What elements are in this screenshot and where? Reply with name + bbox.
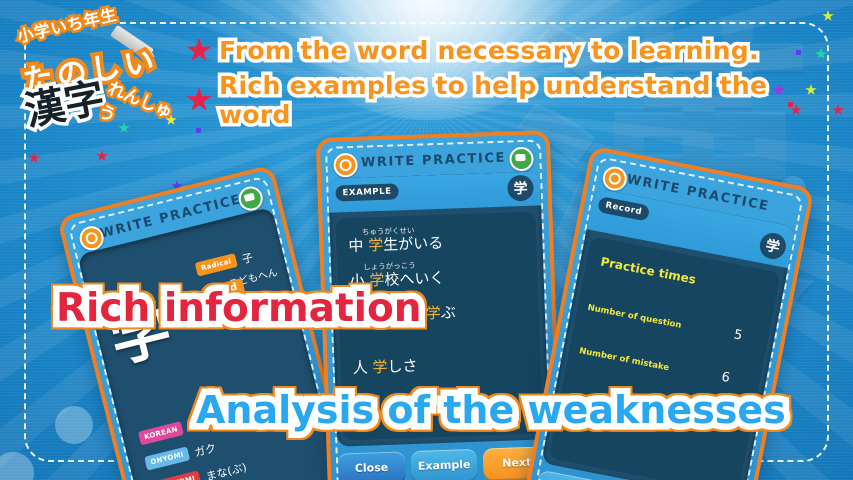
banner-analysis-weaknesses: Analysis of the weaknesses [196, 388, 786, 432]
promo-banner: 漢 小学いち年生 たのしい 漢字 れんしゅう From the word nec… [0, 0, 853, 480]
close-button[interactable]: Close [338, 451, 406, 480]
card-screen: Record 学 Practice times Number of questi… [541, 188, 796, 480]
sentence-highlight: 学 [372, 358, 388, 377]
sentence-prefix: 中 [348, 236, 368, 255]
stat-label: Number of question [587, 303, 683, 331]
section-title: Practice times [599, 255, 697, 287]
reading-value: ガク [193, 440, 218, 461]
record-panel: Practice times Number of question 5 Numb… [548, 236, 781, 480]
stat-value: 5 [732, 327, 743, 343]
record-badge: Record [597, 196, 650, 221]
logo-grade-text: 小学いち年生 [15, 1, 120, 47]
sentence-suffix: ぶ [441, 303, 457, 322]
logo-practice-text: れんしゅう [95, 74, 182, 148]
card-title: WRITE PRACTICE [361, 150, 507, 170]
reading-tag: KUNYOMI [150, 470, 201, 480]
reading-tag: KOREAN [138, 421, 184, 445]
reading-tag: ONYOMI [144, 446, 190, 470]
star-icon [186, 87, 212, 113]
headline-row: Rich examples to help understand the wor… [186, 71, 826, 129]
reading-value: まな(ぶ) [204, 459, 248, 480]
example-button[interactable]: Example [410, 449, 478, 480]
headline-text: Rich examples to help understand the wor… [219, 71, 826, 129]
attribute-value: 子 [240, 249, 255, 267]
example-sentence: ちゅうがくせい 中 学生がいる [348, 222, 525, 255]
book-icon[interactable] [509, 147, 534, 172]
sentence-suffix: しさ [387, 357, 418, 376]
kanji-badge: 学 [758, 231, 788, 261]
app-logo: 小学いち年生 たのしい 漢字 れんしゅう [6, 6, 176, 146]
screen-topbar: EXAMPLE 学 [328, 171, 541, 212]
sentence-highlight: 学 [368, 236, 384, 255]
stat-label: Number of mistake [578, 346, 670, 373]
example-sentence: 人 学しさ [352, 353, 529, 377]
sentence-suffix: 生がいる [383, 234, 444, 254]
sentence-body: 人 学しさ [352, 353, 529, 377]
stat-value: 6 [720, 370, 731, 386]
kanji-badge: 学 [507, 175, 534, 202]
sentence-prefix: 人 [352, 358, 372, 377]
example-badge: EXAMPLE [335, 183, 399, 201]
card-button-row: Close Example Next [338, 446, 551, 480]
attribute-tag: Radical [195, 253, 238, 276]
banner-rich-information: Rich information [56, 286, 422, 331]
gear-icon[interactable] [333, 153, 358, 178]
headline-text: From the word necessary to learning. [219, 36, 759, 65]
gear-icon[interactable] [601, 165, 629, 193]
star-icon [186, 38, 212, 64]
headline-row: From the word necessary to learning. [186, 36, 826, 65]
sentence-highlight: 学 [426, 304, 442, 323]
headline-group: From the word necessary to learning. Ric… [186, 36, 826, 135]
